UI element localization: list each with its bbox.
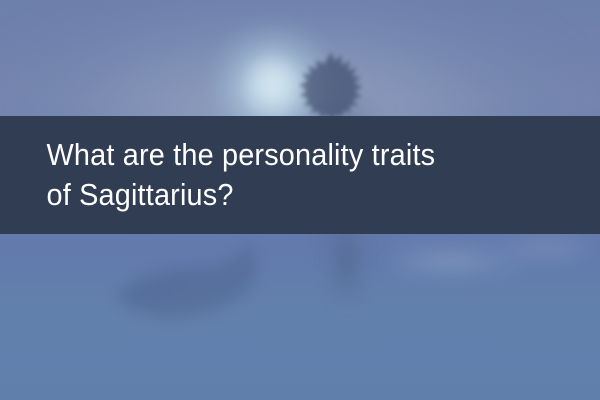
question-text: What are the personality traits of Sagit… <box>0 135 558 215</box>
caption-banner: What are the personality traits of Sagit… <box>0 116 600 234</box>
lower-foliage-silhouette <box>318 236 380 332</box>
cloud-wisp <box>392 236 600 306</box>
question-image-card: What are the personality traits of Sagit… <box>0 0 600 400</box>
wing-silhouette-icon <box>108 238 318 334</box>
